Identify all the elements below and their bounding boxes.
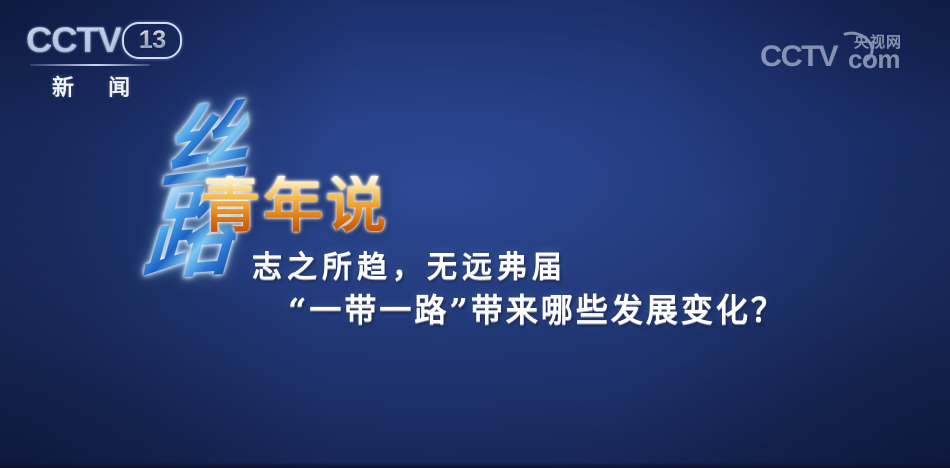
channel-bug-underline [30, 64, 150, 66]
channel-number-pill: 13 [122, 22, 182, 59]
watermark-domain-suffix: com [848, 46, 900, 72]
watermark-cctv-wordmark: CCTV [760, 42, 837, 72]
channel-name-label: 新 闻 [52, 70, 144, 102]
cctv-13-channel-bug: CCTV 13 新 闻 [18, 20, 208, 98]
bottom-edge-shadow [0, 462, 950, 468]
cctv-com-watermark: CCTV 央视网 com [760, 30, 908, 78]
subtitle-line-1: 志之所趋，无远弗届 [252, 253, 567, 283]
cctv-wordmark: CCTV [26, 23, 121, 58]
program-name-gold: 青年说 [200, 176, 389, 236]
broadcast-title-card: CCTV 13 新 闻 CCTV 央视网 com 丝 路 青年说 青年说 志之所… [0, 0, 950, 468]
subtitle-line-2: “一带一路”带来哪些发展变化？ [288, 294, 786, 326]
channel-number: 13 [139, 28, 166, 53]
channel-bug-logo-row: CCTV 13 [18, 20, 208, 60]
